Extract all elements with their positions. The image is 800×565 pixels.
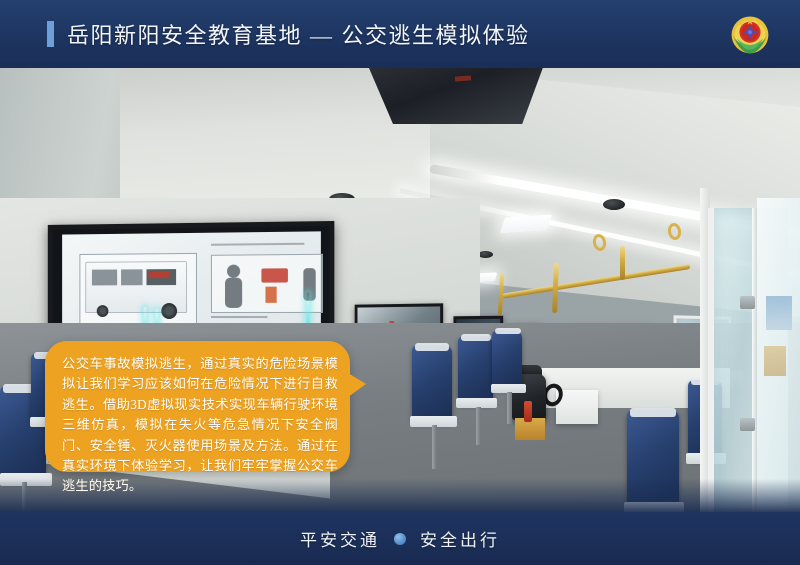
header-title-sub: 公交逃生模拟体验	[342, 23, 530, 48]
bus-wheel-icon	[161, 303, 177, 319]
page-footer: 平安交通 安全出行	[0, 512, 800, 565]
footer-text-right: 安全出行	[420, 526, 500, 551]
window-sky-view	[766, 296, 792, 330]
door-mullion	[752, 208, 757, 513]
handrail-pole-icon	[620, 246, 625, 280]
footer-dot-separator-icon	[394, 533, 406, 545]
ceiling-speaker-icon	[603, 199, 625, 210]
header-title-main: 岳阳新阳安全教育基地	[67, 23, 302, 48]
ceiling-speaker-icon	[478, 251, 493, 258]
handrail-pole-icon	[552, 263, 559, 313]
door-hinge-icon	[740, 418, 755, 431]
footer-text-left: 平安交通	[300, 526, 380, 551]
bus-wheel-icon	[97, 305, 109, 317]
header-title-dash: —	[310, 23, 334, 48]
callout-tail	[348, 373, 366, 397]
door-hinge-icon	[740, 296, 755, 309]
description-callout: 公交车事故模拟逃生，通过真实的危险场景模拟让我们学习应该如何在危险情况下进行自救…	[45, 341, 350, 472]
page-header: 岳阳新阳安全教育基地—公交逃生模拟体验	[0, 0, 800, 68]
callout-text: 公交车事故模拟逃生，通过真实的危险场景模拟让我们学习应该如何在危险情况下进行自救…	[62, 354, 338, 497]
fire-extinguisher-icon	[524, 401, 532, 422]
traffic-police-safety-emblem-icon	[727, 11, 773, 57]
page-title: 岳阳新阳安全教育基地—公交逃生模拟体验	[67, 18, 530, 50]
footer-slogan: 平安交通 安全出行	[300, 526, 500, 551]
window-exterior-view	[764, 346, 786, 376]
header-accent-bar	[47, 21, 54, 47]
slide-page: 岳阳新阳安全教育基地—公交逃生模拟体验	[0, 0, 800, 565]
